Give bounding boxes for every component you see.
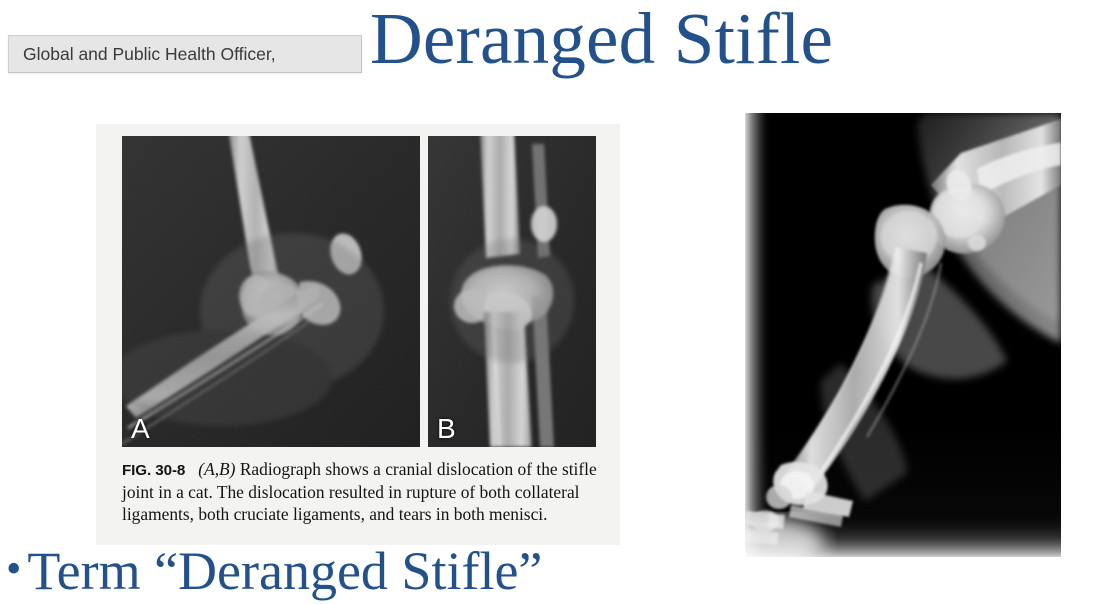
radiograph-image-a (122, 136, 420, 447)
radiograph-image-b (428, 136, 596, 447)
panel-label-a: A (131, 415, 150, 443)
figure-caption: FIG. 30-8 (A,B) Radiograph shows a crani… (122, 458, 602, 526)
bullet-item-label: Term “Deranged Stifle” (27, 541, 542, 601)
lateral-stifle-radiograph-image (745, 113, 1061, 557)
radiograph-panel-b: B (428, 136, 596, 447)
bullet-item-deranged-stifle: •Term “Deranged Stifle” (6, 540, 542, 604)
overlay-caption-text: Global and Public Health Officer, (23, 44, 276, 65)
figure-number: FIG. 30-8 (122, 462, 185, 479)
figure-card: A (96, 124, 620, 545)
bullet-dot-icon: • (6, 544, 21, 593)
radiograph-panel-a: A (122, 136, 420, 447)
figure-ab-marker: (A,B) (198, 459, 235, 479)
panel-label-b: B (437, 415, 456, 443)
radiograph-panel-row: A (122, 136, 596, 447)
overlay-caption-chip[interactable]: Global and Public Health Officer, (8, 35, 362, 73)
lateral-stifle-radiograph (745, 113, 1061, 557)
page-title: Deranged Stifle (370, 0, 833, 83)
